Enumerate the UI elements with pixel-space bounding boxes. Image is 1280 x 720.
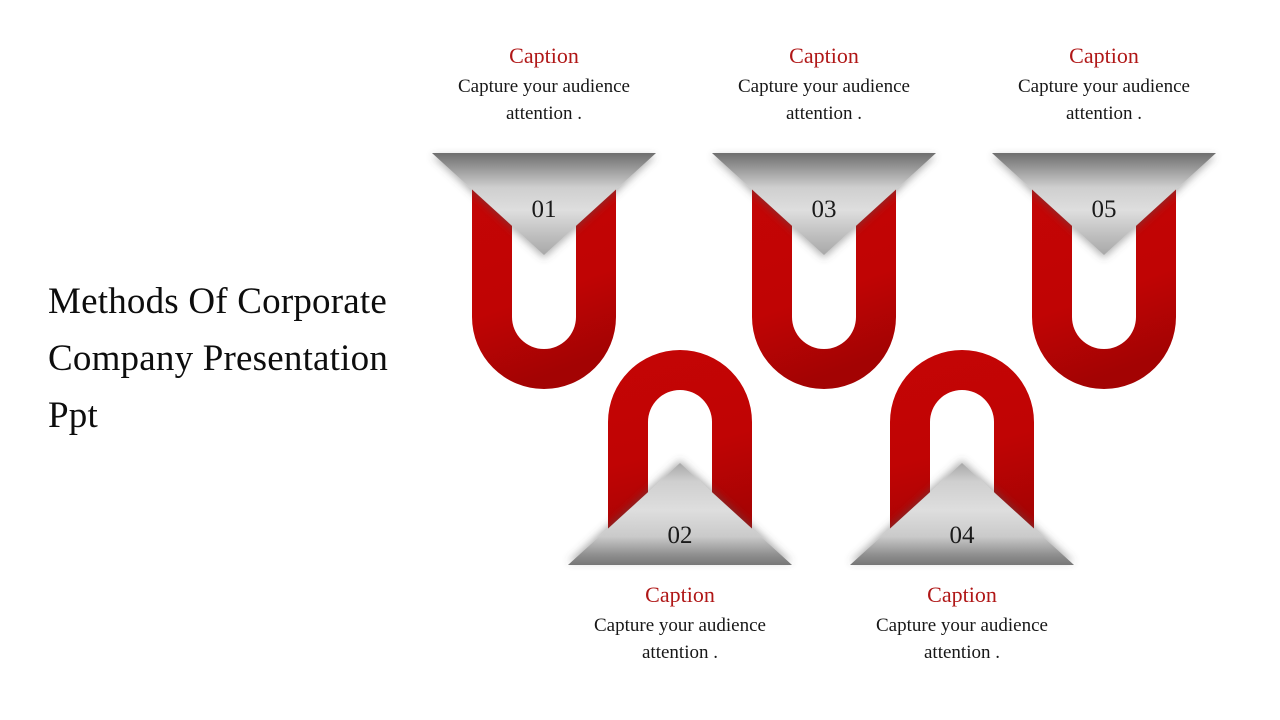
caption-body-02: Capture your audience attention . xyxy=(550,612,810,666)
node-number-05: 05 xyxy=(1074,197,1134,222)
caption-body-01: Capture your audience attention . xyxy=(414,73,674,127)
caption-block-02: Caption Capture your audience attention … xyxy=(550,581,810,666)
node-number-02: 02 xyxy=(650,523,710,548)
node-number-04: 04 xyxy=(932,523,992,548)
caption-title-04: Caption xyxy=(832,581,1092,609)
caption-block-04: Caption Capture your audience attention … xyxy=(832,581,1092,666)
process-diagram: 01 Caption Capture your audience attenti… xyxy=(0,0,1280,720)
caption-title-03: Caption xyxy=(694,42,954,70)
triangle-up-02 xyxy=(568,463,792,565)
node-number-03: 03 xyxy=(794,197,854,222)
caption-body-03: Capture your audience attention . xyxy=(694,73,954,127)
caption-body-05: Capture your audience attention . xyxy=(974,73,1234,127)
caption-block-03: Caption Capture your audience attention … xyxy=(694,42,954,127)
process-node-04[interactable]: 04 xyxy=(850,336,1074,566)
process-node-02[interactable]: 02 xyxy=(568,336,792,566)
caption-title-01: Caption xyxy=(414,42,674,70)
caption-body-04: Capture your audience attention . xyxy=(832,612,1092,666)
triangle-up-04 xyxy=(850,463,1074,565)
caption-block-05: Caption Capture your audience attention … xyxy=(974,42,1234,127)
caption-title-02: Caption xyxy=(550,581,810,609)
node-number-01: 01 xyxy=(514,197,574,222)
caption-block-01: Caption Capture your audience attention … xyxy=(414,42,674,127)
caption-title-05: Caption xyxy=(974,42,1234,70)
